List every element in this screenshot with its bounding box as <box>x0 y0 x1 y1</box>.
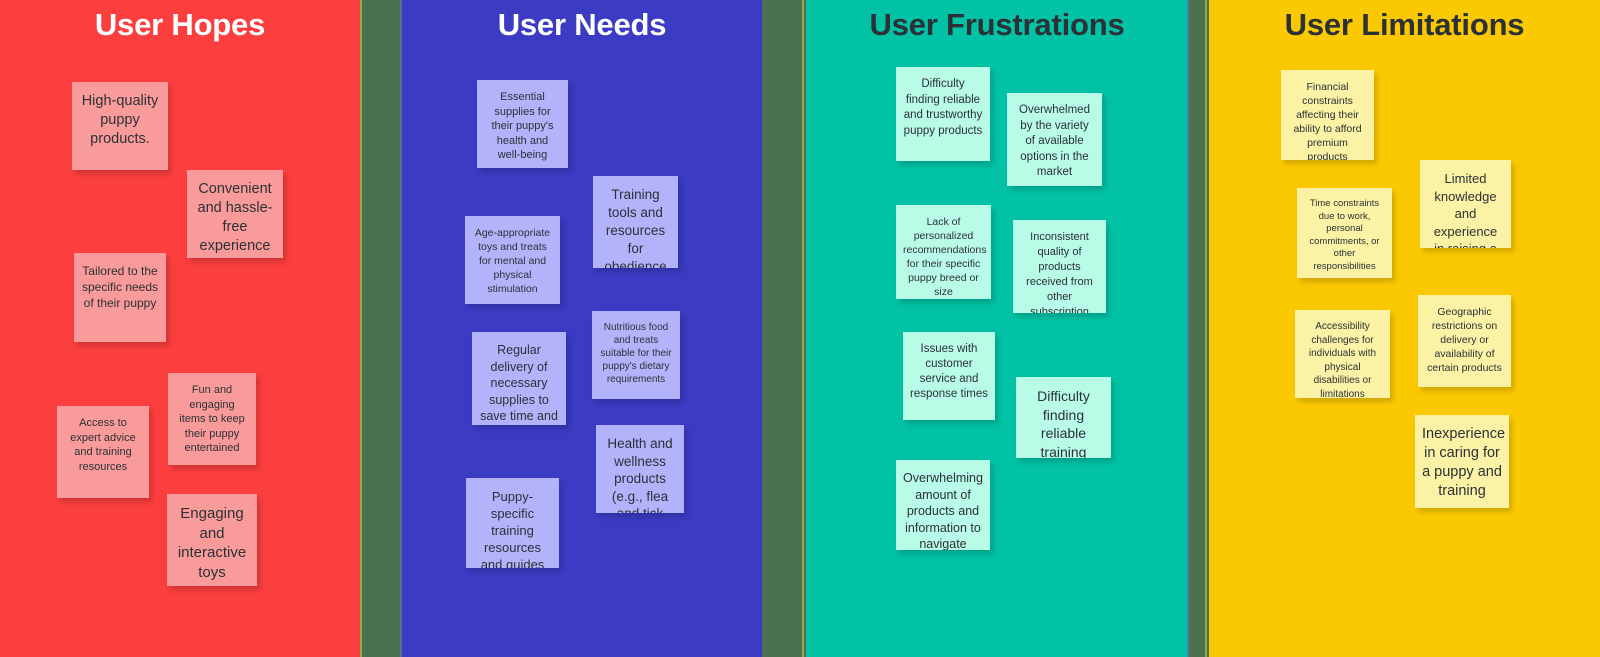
column-title-user-hopes: User Hopes <box>0 6 360 44</box>
sticky-note[interactable]: Time constraints due to work, personal c… <box>1297 188 1392 278</box>
sticky-note[interactable]: Essential supplies for their puppy's hea… <box>477 80 568 168</box>
sticky-note[interactable]: Fun and engaging items to keep their pup… <box>168 373 256 465</box>
sticky-note[interactable]: Engaging and interactive toys <box>167 494 257 586</box>
sticky-note[interactable]: Tailored to the specific needs of their … <box>74 253 166 342</box>
column-title-user-frustrations: User Frustrations <box>806 6 1188 44</box>
sticky-note-text: Financial constraints affecting their ab… <box>1288 80 1367 160</box>
sticky-note[interactable]: Inconsistent quality of products receive… <box>1013 220 1106 313</box>
sticky-note-text: Essential supplies for their puppy's hea… <box>484 90 561 163</box>
sticky-note-text: Health and wellness products (e.g., flea… <box>603 435 677 513</box>
panel-edge-line <box>1187 0 1189 657</box>
column-title-user-needs: User Needs <box>402 6 762 44</box>
sticky-note-text: Engaging and interactive toys <box>174 504 250 582</box>
column-user-limitations[interactable]: User Limitations <box>1209 0 1600 657</box>
sticky-note[interactable]: Regular delivery of necessary supplies t… <box>472 332 566 425</box>
sticky-note[interactable]: Nutritious food and treats suitable for … <box>592 311 680 399</box>
column-user-needs[interactable]: User Needs <box>402 0 762 657</box>
sticky-note-text: Convenient and hassle-free experience <box>194 180 276 256</box>
sticky-note-text: Time constraints due to work, personal c… <box>1304 198 1385 273</box>
column-user-frustrations[interactable]: User Frustrations <box>806 0 1188 657</box>
sticky-note-text: High-quality puppy products. <box>79 92 161 149</box>
sticky-note-text: Overwhelming amount of products and info… <box>903 470 983 550</box>
sticky-note-text: Limited knowledge and experience in rais… <box>1427 170 1504 248</box>
panel-edge-line <box>802 0 804 657</box>
empathy-map-board: User HopesUser NeedsUser FrustrationsUse… <box>0 0 1600 657</box>
sticky-note-text: Nutritious food and treats suitable for … <box>599 321 673 386</box>
sticky-note-text: Age-appropriate toys and treats for ment… <box>472 226 553 296</box>
sticky-note-text: Difficulty finding reliable training res… <box>1023 387 1104 458</box>
sticky-note-text: Inconsistent quality of products receive… <box>1020 230 1099 313</box>
sticky-note-text: Fun and engaging items to keep their pup… <box>175 383 249 456</box>
sticky-note-text: Puppy-specific training resources and gu… <box>473 488 552 568</box>
sticky-note-text: Access to expert advice and training res… <box>64 416 142 474</box>
sticky-note-text: Geographic restrictions on delivery or a… <box>1425 305 1504 375</box>
sticky-note[interactable]: Age-appropriate toys and treats for ment… <box>465 216 560 304</box>
sticky-note-text: Accessibility challenges for individuals… <box>1302 320 1383 398</box>
sticky-note-text: Tailored to the specific needs of their … <box>81 263 159 311</box>
sticky-note-text: Lack of personalized recommendations for… <box>903 215 984 299</box>
column-title-user-limitations: User Limitations <box>1209 6 1600 44</box>
sticky-note-text: Overwhelmed by the variety of available … <box>1014 103 1095 181</box>
sticky-note[interactable]: Difficulty finding reliable and trustwor… <box>896 67 990 161</box>
sticky-note[interactable]: Limited knowledge and experience in rais… <box>1420 160 1511 248</box>
sticky-note-text: Training tools and resources for obedien… <box>600 186 671 268</box>
sticky-note[interactable]: Puppy-specific training resources and gu… <box>466 478 559 568</box>
panel-edge-line <box>1205 0 1207 657</box>
sticky-note[interactable]: Health and wellness products (e.g., flea… <box>596 425 684 513</box>
sticky-note[interactable]: Training tools and resources for obedien… <box>593 176 678 268</box>
panel-edge-line <box>400 0 402 657</box>
sticky-note-text: Regular delivery of necessary supplies t… <box>479 342 559 425</box>
sticky-note[interactable]: Accessibility challenges for individuals… <box>1295 310 1390 398</box>
sticky-note[interactable]: Issues with customer service and respons… <box>903 332 995 420</box>
sticky-note[interactable]: Financial constraints affecting their ab… <box>1281 70 1374 160</box>
panel-edge-line <box>360 0 362 657</box>
sticky-note-text: Inexperience in caring for a puppy and t… <box>1422 425 1502 501</box>
sticky-note[interactable]: Overwhelmed by the variety of available … <box>1007 93 1102 186</box>
sticky-note[interactable]: Lack of personalized recommendations for… <box>896 205 991 299</box>
sticky-note-text: Issues with customer service and respons… <box>910 342 988 402</box>
sticky-note[interactable]: Access to expert advice and training res… <box>57 406 149 498</box>
sticky-note[interactable]: High-quality puppy products. <box>72 82 168 170</box>
sticky-note[interactable]: Overwhelming amount of products and info… <box>896 460 990 550</box>
sticky-note[interactable]: Convenient and hassle-free experience <box>187 170 283 258</box>
sticky-note-text: Difficulty finding reliable and trustwor… <box>903 77 983 139</box>
sticky-note[interactable]: Geographic restrictions on delivery or a… <box>1418 295 1511 387</box>
sticky-note[interactable]: Difficulty finding reliable training res… <box>1016 377 1111 458</box>
sticky-note[interactable]: Inexperience in caring for a puppy and t… <box>1415 415 1509 508</box>
